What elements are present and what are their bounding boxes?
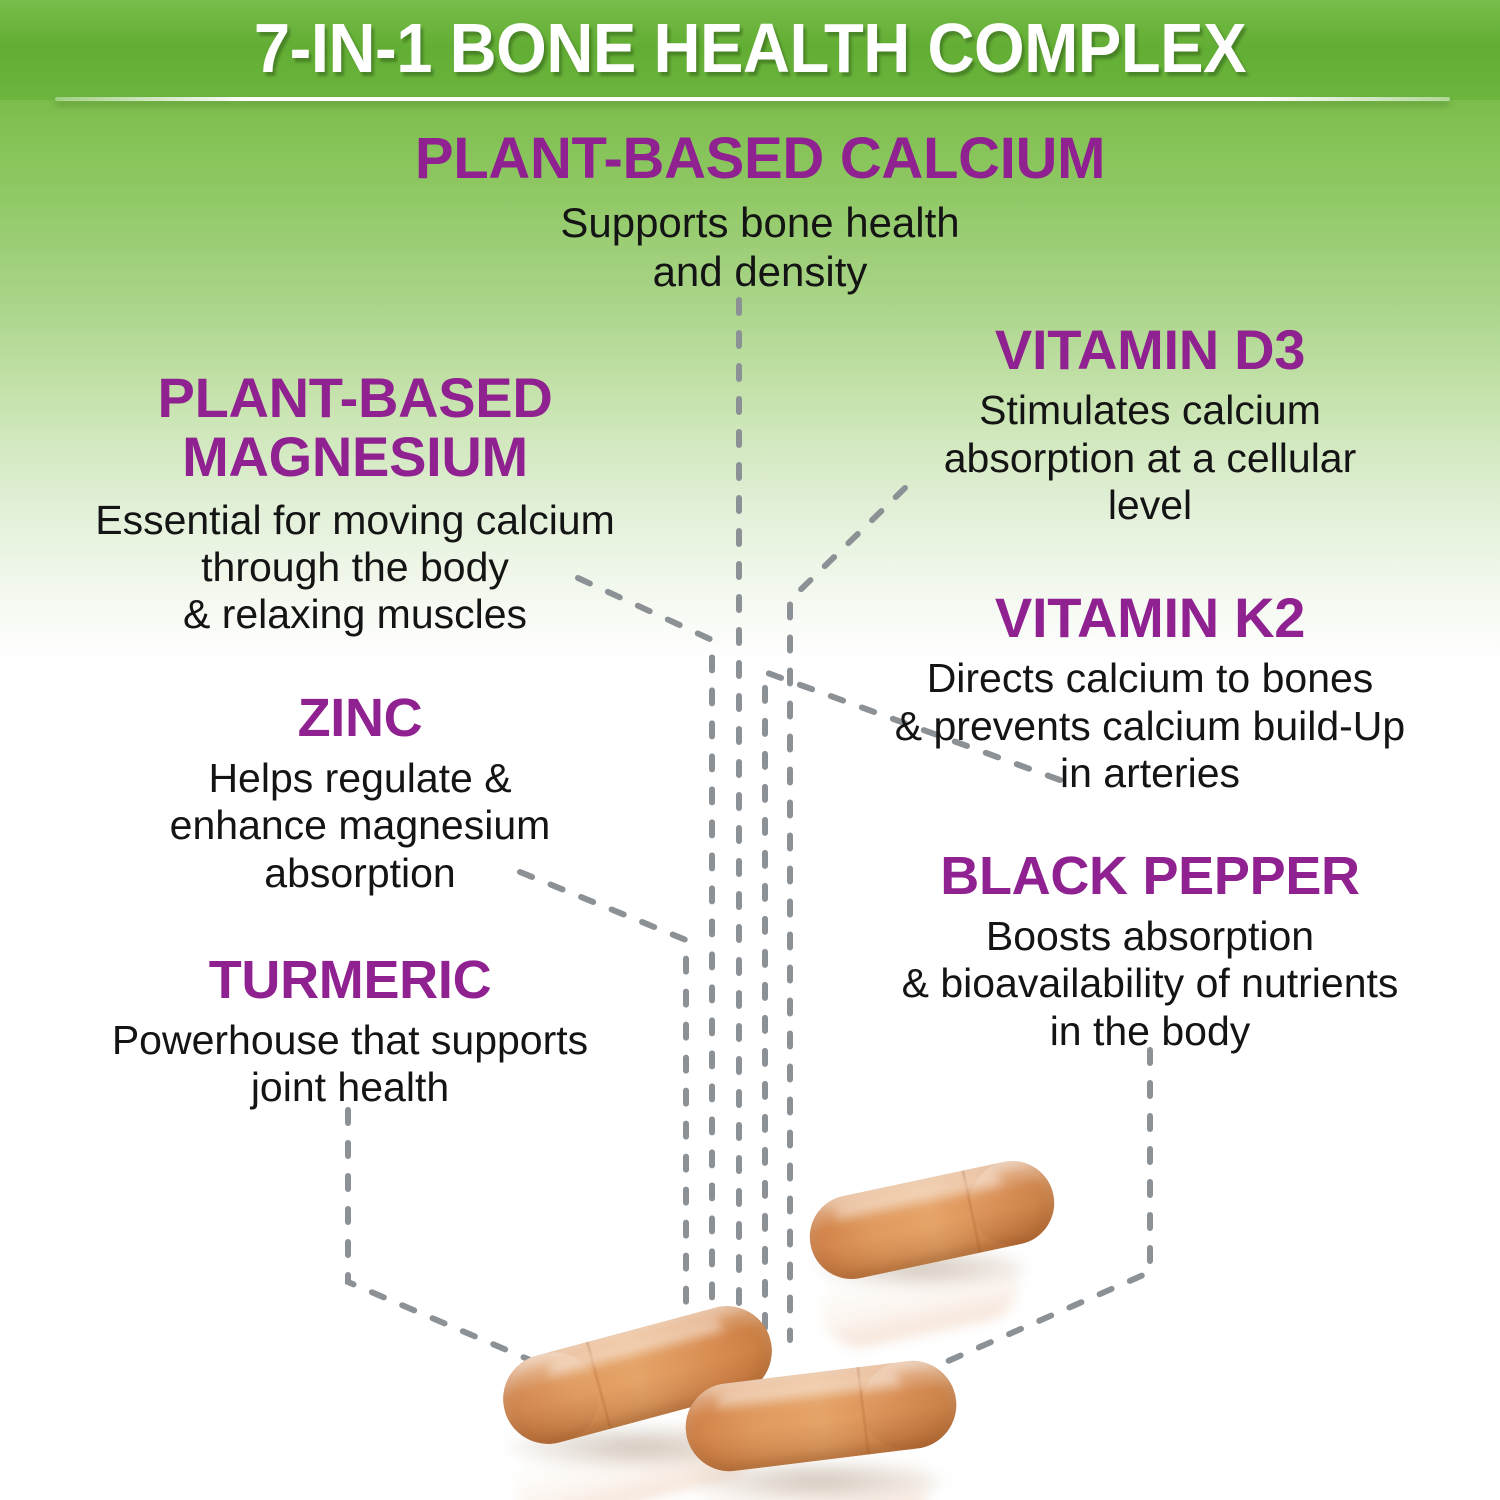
bone-health-infographic: 7-IN-1 BONE HEALTH COMPLEX PLANT-BASED C… [0, 0, 1500, 1500]
capsule-group [0, 0, 1500, 1500]
capsule-gloss [546, 1319, 725, 1383]
capsule-end-cap [856, 1356, 961, 1455]
